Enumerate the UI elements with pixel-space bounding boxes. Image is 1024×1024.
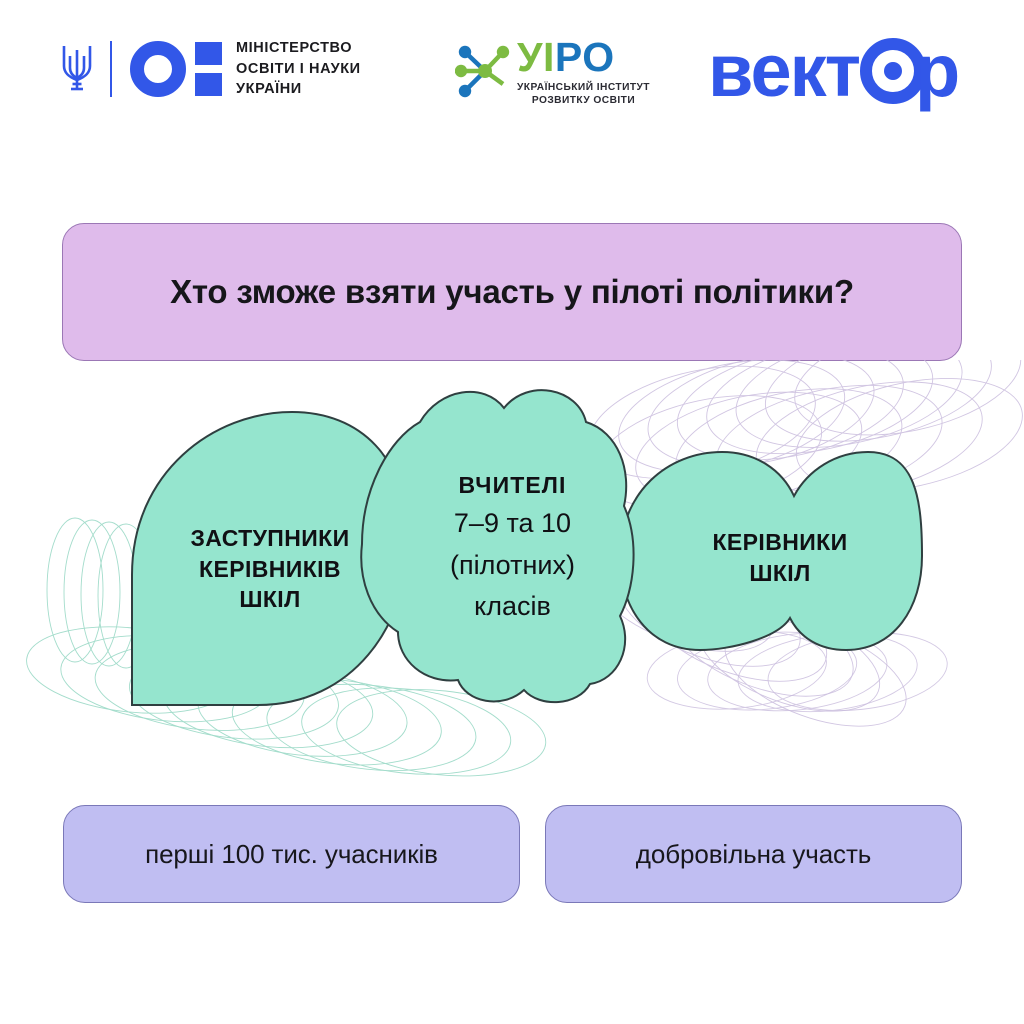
mon-ring-icon	[130, 41, 186, 97]
uiro-subtitle-line-1: УКРАЇНСЬКИЙ ІНСТИТУТ	[517, 81, 650, 94]
svg-text:р: р	[915, 30, 958, 112]
pill-first-100k-participants: перші 100 тис. учасників	[63, 805, 520, 903]
teachers-line-1: 7–9 та 10	[395, 504, 630, 543]
teachers-line-2: (пілотних)	[395, 546, 630, 585]
uiro-wordmark: УІРО УКРАЇНСЬКИЙ ІНСТИТУТ РОЗВИТКУ ОСВІТ…	[517, 38, 650, 108]
page-title: Хто зможе взяти участь у пілоті політики…	[170, 273, 854, 311]
pill-1-text: перші 100 тис. учасників	[145, 839, 438, 870]
blob-school-heads-label: КЕРІВНИКИ ШКІЛ	[650, 527, 910, 588]
blob-teachers-label: ВЧИТЕЛІ 7–9 та 10 (пілотних) класів	[395, 470, 630, 626]
network-nodes-icon	[455, 40, 513, 102]
svg-text:вект: вект	[708, 30, 860, 112]
ministry-line-2: ОСВІТИ І НАУКИ	[236, 59, 361, 80]
uiro-logo: УІРО УКРАЇНСЬКИЙ ІНСТИТУТ РОЗВИТКУ ОСВІТ…	[455, 38, 650, 108]
deputy-line-3: ШКІЛ	[150, 584, 390, 615]
teachers-line-3: класів	[395, 587, 630, 626]
o-colon-mark	[130, 41, 222, 97]
ministry-line-1: МІНІСТЕРСТВО	[236, 38, 361, 59]
deputy-line-2: КЕРІВНИКІВ	[150, 554, 390, 585]
uiro-subtitle-line-2: РОЗВИТКУ ОСВІТИ	[517, 94, 650, 107]
blob-deputy-school-heads-label: ЗАСТУПНИКИ КЕРІВНИКІВ ШКІЛ	[150, 523, 390, 615]
uiro-title: УІРО	[517, 38, 650, 77]
pill-voluntary-participation: добровільна участь	[545, 805, 962, 903]
infographic-canvas: МІНІСТЕРСТВО ОСВІТИ І НАУКИ УКРАЇНИ	[0, 0, 1024, 1024]
uiro-subtitle: УКРАЇНСЬКИЙ ІНСТИТУТ РОЗВИТКУ ОСВІТИ	[517, 81, 650, 108]
ministry-name: МІНІСТЕРСТВО ОСВІТИ І НАУКИ УКРАЇНИ	[236, 38, 361, 100]
teachers-heading: ВЧИТЕЛІ	[395, 470, 630, 501]
uiro-title-blue: РО	[555, 34, 615, 80]
vektor-logo: вект р	[708, 30, 970, 114]
audience-blob-group: ЗАСТУПНИКИ КЕРІВНИКІВ ШКІЛ ВЧИТЕЛІ 7–9 т…	[0, 360, 1024, 780]
uiro-title-green: УІ	[517, 34, 555, 80]
school-heads-line-1: КЕРІВНИКИ	[650, 527, 910, 558]
vektor-o-dot-icon	[884, 62, 902, 80]
deputy-line-1: ЗАСТУПНИКИ	[150, 523, 390, 554]
pill-2-text: добровільна участь	[636, 839, 871, 870]
ministry-logo: МІНІСТЕРСТВО ОСВІТИ І НАУКИ УКРАЇНИ	[60, 38, 361, 100]
logo-divider	[110, 41, 112, 97]
school-heads-line-2: ШКІЛ	[650, 558, 910, 589]
ministry-line-3: УКРАЇНИ	[236, 79, 361, 100]
mon-squares-icon	[195, 42, 222, 96]
logo-strip: МІНІСТЕРСТВО ОСВІТИ І НАУКИ УКРАЇНИ	[0, 0, 1024, 150]
ukraine-trident-icon	[60, 40, 94, 98]
title-banner: Хто зможе взяти участь у пілоті політики…	[62, 223, 962, 361]
